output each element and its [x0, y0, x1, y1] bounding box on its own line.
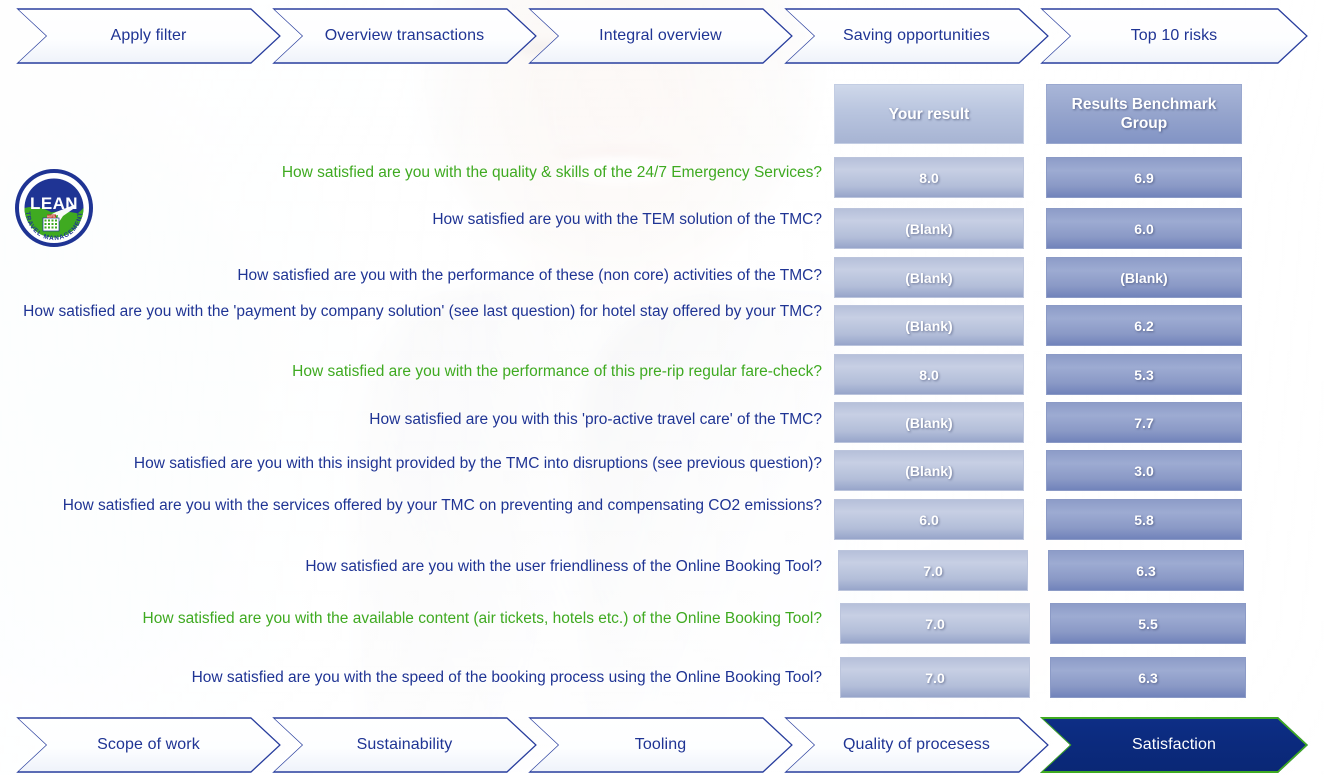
cell-your-result: (Blank): [834, 305, 1024, 346]
cell-benchmark: 5.8: [1046, 499, 1242, 540]
cell-benchmark: 6.2: [1046, 305, 1242, 346]
cell-benchmark: 7.7: [1046, 402, 1242, 443]
column-header-row: Your result Results Benchmark Group: [0, 84, 1324, 144]
question-label: How satisfied are you with the TEM solut…: [22, 209, 822, 230]
cell-your-result: (Blank): [834, 208, 1024, 249]
bottom-navigation: Scope of workSustainabilityToolingQualit…: [0, 717, 1324, 773]
cell-your-result: (Blank): [834, 257, 1024, 298]
nav-tab-label: Satisfaction: [1120, 736, 1228, 754]
cell-your-result: 7.0: [840, 657, 1030, 698]
nav-tab-integral-overview[interactable]: Integral overview: [528, 8, 793, 64]
nav-tab-saving-opportunities[interactable]: Saving opportunities: [784, 8, 1049, 64]
results-grid: LEAN HOTEL: [0, 72, 1324, 712]
column-header-your-result: Your result: [834, 84, 1024, 144]
cell-benchmark: 3.0: [1046, 450, 1242, 491]
question-label: How satisfied are you with this 'pro-act…: [22, 409, 822, 430]
nav-tab-tooling[interactable]: Tooling: [528, 717, 793, 773]
cell-benchmark: 5.5: [1050, 603, 1246, 644]
question-label: How satisfied are you with the user frie…: [22, 556, 822, 577]
nav-tab-label: Overview transactions: [313, 27, 497, 45]
question-label: How satisfied are you with the speed of …: [22, 667, 822, 688]
cell-benchmark: 6.0: [1046, 208, 1242, 249]
cell-your-result: 8.0: [834, 157, 1024, 198]
nav-tab-label: Tooling: [623, 736, 698, 754]
question-label: How satisfied are you with the quality &…: [22, 162, 822, 183]
nav-tab-label: Integral overview: [587, 27, 734, 45]
nav-tab-scope-of-work[interactable]: Scope of work: [16, 717, 281, 773]
cell-your-result: (Blank): [834, 450, 1024, 491]
question-label: How satisfied are you with the services …: [22, 495, 822, 516]
satisfaction-dashboard: Apply filterOverview transactionsIntegra…: [0, 0, 1324, 775]
cell-benchmark: 6.9: [1046, 157, 1242, 198]
nav-tab-apply-filter[interactable]: Apply filter: [16, 8, 281, 64]
nav-tab-label: Quality of procesess: [831, 736, 1002, 754]
cell-your-result: 8.0: [834, 354, 1024, 395]
nav-tab-sustainability[interactable]: Sustainability: [272, 717, 537, 773]
cell-your-result: 7.0: [840, 603, 1030, 644]
question-label: How satisfied are you with the performan…: [22, 265, 822, 286]
nav-tab-top-10-risks[interactable]: Top 10 risks: [1040, 8, 1308, 64]
nav-tab-label: Saving opportunities: [831, 27, 1002, 45]
nav-tab-satisfaction[interactable]: Satisfaction: [1040, 717, 1308, 773]
nav-tab-quality-of-procesess[interactable]: Quality of procesess: [784, 717, 1049, 773]
nav-tab-label: Top 10 risks: [1119, 27, 1230, 45]
cell-benchmark: 5.3: [1046, 354, 1242, 395]
nav-tab-label: Apply filter: [99, 27, 199, 45]
cell-benchmark: 6.3: [1050, 657, 1246, 698]
nav-tab-overview-transactions[interactable]: Overview transactions: [272, 8, 537, 64]
cell-your-result: 7.0: [838, 550, 1028, 591]
top-navigation: Apply filterOverview transactionsIntegra…: [0, 8, 1324, 64]
column-header-benchmark: Results Benchmark Group: [1046, 84, 1242, 144]
cell-benchmark: 6.3: [1048, 550, 1244, 591]
cell-your-result: 6.0: [834, 499, 1024, 540]
nav-tab-label: Sustainability: [345, 736, 465, 754]
question-label: How satisfied are you with the 'payment …: [22, 301, 822, 322]
cell-benchmark: (Blank): [1046, 257, 1242, 298]
question-label: How satisfied are you with the available…: [22, 608, 822, 629]
cell-your-result: (Blank): [834, 402, 1024, 443]
question-label: How satisfied are you with the performan…: [22, 361, 822, 382]
nav-tab-label: Scope of work: [85, 736, 212, 754]
question-label: How satisfied are you with this insight …: [22, 453, 822, 474]
